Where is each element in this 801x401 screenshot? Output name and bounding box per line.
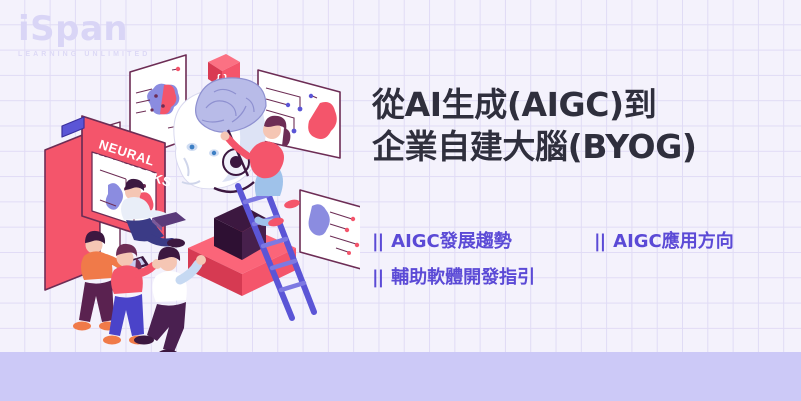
bullet-marker-icon: || [594,230,605,254]
topic-list: || AIGC發展趨勢 || AIGC應用方向 || 輔助軟體開發指引 [372,230,792,291]
topic-item-aigc-application[interactable]: || AIGC應用方向 [594,230,734,254]
circuit-panel-lower-right [300,190,360,272]
topic-row-2: || 輔助軟體開發指引 [372,266,792,290]
headline-line-1: 從AI生成(AIGC)到 [372,84,792,126]
headline-block: 從AI生成(AIGC)到 企業自建大腦(BYOG) [372,84,792,168]
banner-root: NEURAL NETWORKS { } [0,0,801,401]
topic-item-label: 輔助軟體開發指引 [391,266,535,290]
topic-item-label: AIGC發展趨勢 [391,230,512,254]
bullet-marker-icon: || [372,230,383,254]
topic-row-1: || AIGC發展趨勢 || AIGC應用方向 [372,230,792,254]
bottom-accent-band [0,352,801,401]
logo-wordmark: iSpan [18,12,188,46]
bullet-marker-icon: || [372,266,383,290]
topic-item-label: AIGC應用方向 [613,230,734,254]
topic-item-dev-guide[interactable]: || 輔助軟體開發指引 [372,266,594,290]
topic-item-aigc-trend[interactable]: || AIGC發展趨勢 [372,230,594,254]
logo-tagline: LEARNING UNLIMITED [18,51,188,58]
ispan-logo[interactable]: iSpan LEARNING UNLIMITED [18,12,188,58]
headline-line-2: 企業自建大腦(BYOG) [372,126,792,168]
